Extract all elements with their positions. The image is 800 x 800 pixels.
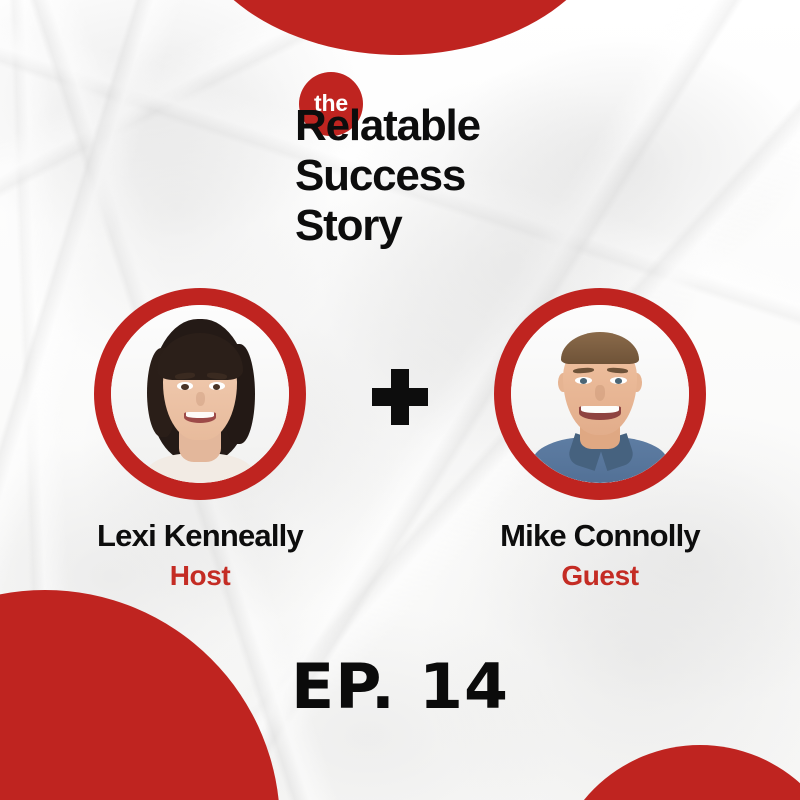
person-name-guest: Mike Connolly — [500, 518, 700, 554]
host-face-illustration — [111, 305, 289, 483]
avatar-ring-guest — [494, 288, 706, 500]
podcast-cover-art: the Relatable Success Story — [0, 0, 800, 800]
portrait-avatar-icon-host — [111, 305, 289, 483]
show-logo: the Relatable Success Story — [295, 72, 725, 254]
plus-icon — [365, 366, 435, 428]
people-row: Lexi Kenneally Host — [0, 288, 800, 592]
person-guest: Mike Connolly Guest — [435, 288, 765, 592]
person-role-host: Host — [170, 560, 231, 592]
person-role-guest: Guest — [561, 560, 638, 592]
episode-label: EP. 14 — [0, 650, 800, 723]
show-title: Relatable Success Story — [295, 104, 725, 248]
show-title-line-3: Story — [295, 204, 725, 248]
person-name-host: Lexi Kenneally — [97, 518, 303, 554]
portrait-avatar-icon-guest — [511, 305, 689, 483]
show-title-line-2: Success — [295, 154, 725, 198]
person-host: Lexi Kenneally Host — [35, 288, 365, 592]
show-title-line-1: Relatable — [295, 104, 725, 148]
guest-face-illustration — [511, 305, 689, 483]
avatar-ring-host — [94, 288, 306, 500]
